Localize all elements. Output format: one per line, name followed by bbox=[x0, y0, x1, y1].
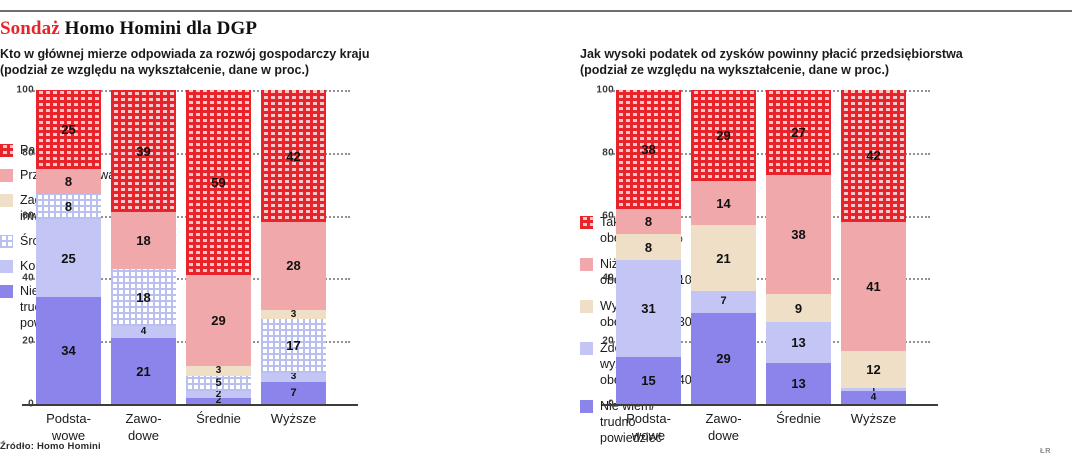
bar-segment-firms: 18 bbox=[111, 212, 176, 269]
bar-segment-state: 29 bbox=[691, 90, 756, 181]
source-note: Źródło: Homo Homini bbox=[0, 441, 101, 452]
chart-panel-left: Kto w głównej mierze odpowiada za rozwój… bbox=[0, 46, 520, 463]
bar-value-label: 18 bbox=[136, 291, 150, 304]
bar-value-label: 21 bbox=[716, 252, 730, 265]
bar-2[interactable]: 297211429 bbox=[691, 90, 756, 404]
bar-value-label: 3 bbox=[291, 373, 297, 382]
bar-segment-dk: 29 bbox=[691, 313, 756, 404]
y-axis: 100806040200 bbox=[580, 90, 616, 404]
x-tick-label-1: Podsta- wowe bbox=[29, 410, 109, 444]
bar-segment-eu: 18 bbox=[111, 269, 176, 326]
bar-value-label: 9 bbox=[795, 302, 802, 315]
bar-value-label: 34 bbox=[61, 344, 75, 357]
bar-segment-cons: 2 bbox=[186, 391, 251, 397]
bar-value-label: 27 bbox=[791, 126, 805, 139]
top-divider bbox=[0, 10, 1072, 12]
credit-mark: ŁR bbox=[1040, 446, 1051, 455]
bar-value-label: 13 bbox=[791, 377, 805, 390]
bar-value-label: 18 bbox=[136, 234, 150, 247]
bar-value-label: 8 bbox=[645, 241, 652, 254]
bar-segment-firms: 8 bbox=[36, 169, 101, 194]
bar-value-label: 2 bbox=[216, 391, 222, 397]
x-tick-label-1: Podsta- wowe bbox=[609, 410, 689, 444]
bar-segment-dk: 7 bbox=[261, 382, 326, 404]
x-tick-label-4: Wyższe bbox=[834, 410, 914, 427]
bar-3[interactable]: 22532959 bbox=[186, 90, 251, 404]
bar-value-label: 2 bbox=[216, 398, 222, 404]
bar-value-label: 59 bbox=[211, 176, 225, 189]
bar-value-label: 8 bbox=[645, 215, 652, 228]
bar-value-label: 7 bbox=[720, 296, 726, 307]
bar-value-label: 29 bbox=[211, 314, 225, 327]
bar-segment-foreign: 21 bbox=[691, 225, 756, 291]
bar-value-label: 12 bbox=[866, 363, 880, 376]
bar-segment-firms: 14 bbox=[691, 181, 756, 225]
x-axis-baseline bbox=[22, 404, 358, 406]
bar-segment-cons: 25 bbox=[36, 219, 101, 298]
x-tick-label-4: Wyższe bbox=[254, 410, 334, 427]
bar-value-label: 25 bbox=[61, 123, 75, 136]
chart-left-plot: 1008060402003425882521418183922532959731… bbox=[0, 90, 520, 420]
bar-segment-cons: 1 bbox=[841, 388, 906, 391]
page-title: Sondaż Homo Homini dla DGP bbox=[0, 18, 700, 40]
x-axis-baseline bbox=[602, 404, 938, 406]
bar-value-label: 42 bbox=[866, 149, 880, 162]
bar-4[interactable]: 41124142 bbox=[841, 90, 906, 404]
bar-value-label: 38 bbox=[641, 143, 655, 156]
bar-segment-foreign: 3 bbox=[261, 310, 326, 319]
bar-segment-firms: 28 bbox=[261, 222, 326, 310]
bar-value-label: 3 bbox=[291, 310, 297, 319]
bar-segment-firms: 41 bbox=[841, 222, 906, 351]
bar-segment-dk: 34 bbox=[36, 297, 101, 404]
x-tick-label-3: Średnie bbox=[179, 410, 259, 427]
bar-value-label: 4 bbox=[141, 327, 147, 337]
bar-value-label: 15 bbox=[641, 374, 655, 387]
bar-value-label: 8 bbox=[65, 175, 72, 188]
bar-segment-dk: 13 bbox=[766, 363, 831, 404]
bar-value-label: 13 bbox=[791, 336, 805, 349]
chart-right-subtitle: Jak wysoki podatek od zysków powinny pła… bbox=[580, 46, 1072, 78]
bar-segment-cons: 31 bbox=[616, 260, 681, 357]
bar-segment-state: 59 bbox=[186, 90, 251, 275]
bar-value-label: 14 bbox=[716, 197, 730, 210]
bar-segment-foreign: 9 bbox=[766, 294, 831, 322]
bar-segment-foreign: 12 bbox=[841, 351, 906, 389]
bar-value-label: 28 bbox=[286, 259, 300, 272]
bar-2[interactable]: 214181839 bbox=[111, 90, 176, 404]
bar-segment-state: 42 bbox=[261, 90, 326, 222]
bar-value-label: 17 bbox=[286, 339, 300, 352]
headline-kicker: Sondaż bbox=[0, 18, 60, 39]
bar-value-label: 31 bbox=[641, 302, 655, 315]
bar-group: 3425882521418183922532959731732842 bbox=[36, 90, 356, 404]
headline-text: Homo Homini dla DGP bbox=[60, 18, 257, 39]
bar-value-label: 3 bbox=[216, 366, 222, 375]
bar-segment-dk: 21 bbox=[111, 338, 176, 404]
bar-segment-cons: 3 bbox=[261, 373, 326, 382]
bar-segment-eu: 8 bbox=[36, 194, 101, 219]
bar-1[interactable]: 34258825 bbox=[36, 90, 101, 404]
bar-value-label: 39 bbox=[136, 145, 150, 158]
bar-segment-eu: 5 bbox=[186, 376, 251, 392]
bar-segment-dk: 2 bbox=[186, 398, 251, 404]
bar-segment-firms: 38 bbox=[766, 175, 831, 294]
bar-segment-firms: 8 bbox=[616, 209, 681, 234]
x-axis-labels: Podsta- woweZawo- doweŚrednieWyższe bbox=[616, 410, 936, 454]
bar-segment-eu: 17 bbox=[261, 319, 326, 372]
bar-value-label: 41 bbox=[866, 280, 880, 293]
bar-segment-dk: 4 bbox=[841, 391, 906, 404]
y-axis: 100806040200 bbox=[0, 90, 36, 404]
bar-value-label: 5 bbox=[215, 378, 221, 389]
bar-3[interactable]: 131393827 bbox=[766, 90, 831, 404]
bar-value-label: 29 bbox=[716, 129, 730, 142]
bar-value-label: 29 bbox=[716, 352, 730, 365]
x-tick-label-3: Średnie bbox=[759, 410, 839, 427]
chart-right-plot: 1008060402001531883829721142913139382741… bbox=[580, 90, 1072, 420]
bar-segment-state: 27 bbox=[766, 90, 831, 175]
bar-value-label: 25 bbox=[61, 252, 75, 265]
bar-value-label: 4 bbox=[871, 393, 877, 403]
x-tick-label-2: Zawo- dowe bbox=[104, 410, 184, 444]
bar-segment-cons: 4 bbox=[111, 326, 176, 339]
bar-segment-firms: 29 bbox=[186, 275, 251, 366]
bar-segment-dk: 15 bbox=[616, 357, 681, 404]
bar-segment-state: 38 bbox=[616, 90, 681, 209]
bar-value-label: 21 bbox=[136, 365, 150, 378]
bar-segment-foreign: 3 bbox=[186, 366, 251, 375]
bar-segment-state: 39 bbox=[111, 90, 176, 212]
bar-value-label: 42 bbox=[286, 150, 300, 163]
bar-4[interactable]: 731732842 bbox=[261, 90, 326, 404]
bar-value-label: 1 bbox=[871, 388, 877, 391]
bar-1[interactable]: 15318838 bbox=[616, 90, 681, 404]
x-tick-label-2: Zawo- dowe bbox=[684, 410, 764, 444]
bar-segment-state: 25 bbox=[36, 90, 101, 169]
bar-value-label: 7 bbox=[290, 388, 296, 399]
bar-group: 1531883829721142913139382741124142 bbox=[616, 90, 936, 404]
bar-segment-cons: 7 bbox=[691, 291, 756, 313]
chart-panel-right: Jak wysoki podatek od zysków powinny pła… bbox=[580, 46, 1072, 463]
bar-segment-foreign: 8 bbox=[616, 234, 681, 259]
chart-left-subtitle: Kto w głównej mierze odpowiada za rozwój… bbox=[0, 46, 520, 78]
bar-segment-state: 42 bbox=[841, 90, 906, 222]
bar-segment-cons: 13 bbox=[766, 322, 831, 363]
bar-value-label: 38 bbox=[791, 228, 805, 241]
bar-value-label: 8 bbox=[65, 200, 72, 213]
